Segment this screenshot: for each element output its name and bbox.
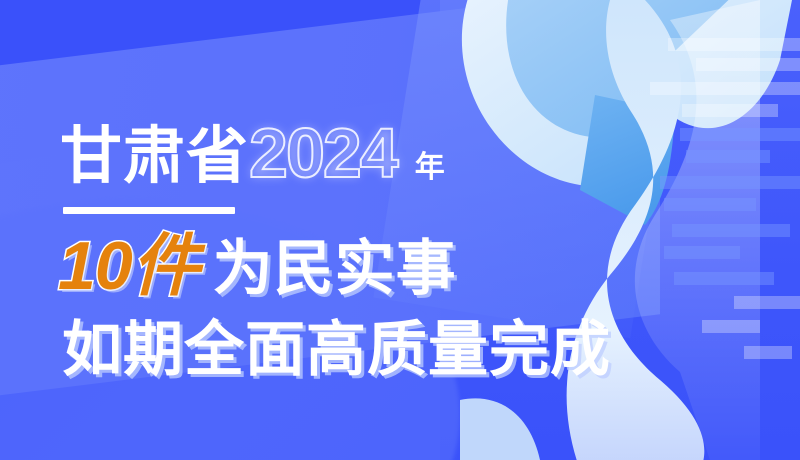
promo-banner: 甘肃省 2024 年 10件 为民实事 如期全面高质量完成: [0, 0, 800, 460]
item-count-highlight: 10件: [58, 232, 199, 300]
headline-block: 甘肃省 2024 年 10件 为民实事 如期全面高质量完成: [0, 0, 800, 460]
year-unit: 年: [415, 153, 445, 183]
headline-line-2-text: 为民实事: [213, 239, 457, 299]
title-underline-rule: [63, 207, 235, 214]
province-name: 甘肃省: [60, 126, 249, 188]
year-number: 2024: [249, 118, 397, 188]
headline-line-3: 如期全面高质量完成: [62, 320, 611, 380]
headline-line-1: 甘肃省 2024 年: [60, 118, 445, 188]
headline-line-2: 10件 为民实事: [58, 232, 457, 300]
